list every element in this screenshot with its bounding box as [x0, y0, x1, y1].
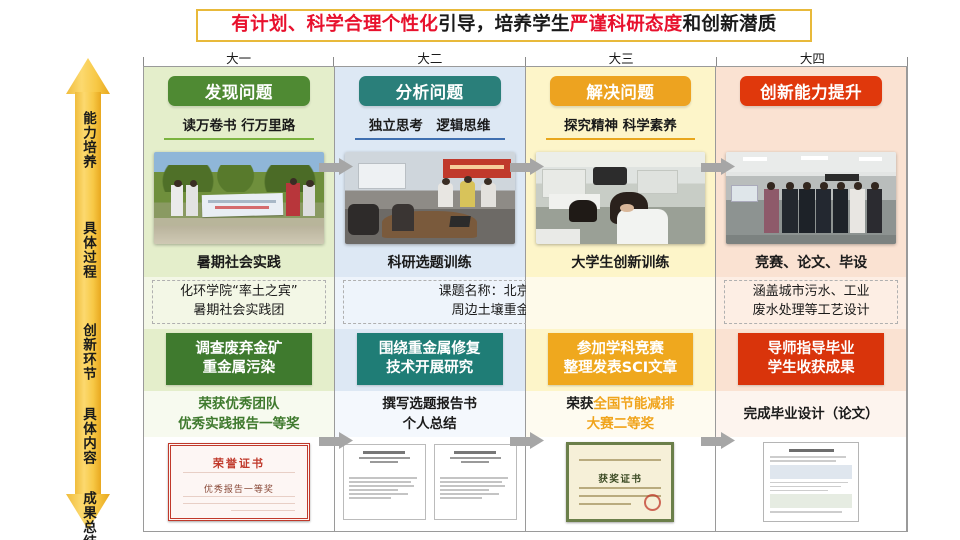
tick-left	[143, 57, 144, 66]
photo-caption-y2: 科研选题训练	[335, 247, 525, 277]
achievement-prefix: 荣获	[566, 396, 593, 412]
photo-summer-practice	[154, 152, 324, 244]
achievement-line-2: 大赛二等奖	[587, 414, 655, 434]
column-headers: 大一 大二 大三 大四	[143, 49, 908, 66]
flow-arrow-goal-2	[510, 158, 544, 175]
honor-certificate-image: 荣誉证书 优秀报告一等奖	[168, 443, 310, 521]
photo-section-y4	[716, 147, 906, 247]
goal-section-y2: 分析问题 独立思考 逻辑思维	[335, 67, 525, 147]
arrow-head-up-icon	[66, 58, 110, 94]
column-header-y4-label: 大四	[800, 51, 825, 66]
photo-group-formal	[726, 152, 896, 244]
content-line-1: 调查废弃金矿	[195, 340, 282, 359]
content-block-y4[interactable]: 导师指导毕业 学生收获成果	[738, 333, 884, 385]
content-block-y1[interactable]: 调查废弃金矿 重金属污染	[166, 333, 312, 385]
achievement-section-y3: 荣获全国节能减排 大赛二等奖	[526, 391, 716, 437]
photo-section-y1	[144, 147, 334, 247]
content-block-y3[interactable]: 参加学科竞赛 整理发表SCI文章	[548, 333, 694, 385]
note-box-y3-placeholder	[526, 280, 708, 324]
column-year-2: 分析问题 独立思考 逻辑思维	[335, 67, 526, 531]
certificate-section-y2	[335, 437, 525, 531]
goal-section-y4: 创新能力提升	[716, 67, 906, 147]
goal-rule-y2	[355, 138, 505, 140]
photo-section-y2	[335, 147, 525, 247]
goal-rule-y4	[736, 118, 886, 120]
goal-rule-y1	[164, 138, 314, 140]
certificate-title: 获奖证书	[569, 471, 671, 485]
column-header-y2-label: 大二	[417, 51, 442, 66]
content-line-1: 导师指导毕业	[768, 340, 855, 359]
content-section-y4: 导师指导毕业 学生收获成果	[716, 329, 906, 391]
achievement-section-y1: 荣获优秀团队 优秀实践报告一等奖	[144, 391, 334, 437]
flow-arrow-goal-1	[319, 158, 353, 175]
axis-label-ability: 能力培养	[75, 98, 101, 182]
note-section-y2: 课题名称：北京郊区废弃金矿 周边土壤重金属污染调查	[335, 277, 525, 329]
goal-pill-y2[interactable]: 分析问题	[359, 76, 501, 106]
paper-document-image	[763, 442, 859, 522]
goal-pill-y3[interactable]: 解决问题	[550, 76, 692, 106]
column-year-4: 创新能力提升	[716, 67, 907, 531]
certificate-title: 荣誉证书	[171, 455, 307, 471]
note-section-y4: 涵盖城市污水、工业 废水处理等工艺设计	[716, 277, 906, 329]
achievement-section-y4: 完成毕业设计（论文）	[716, 391, 906, 437]
content-block-y2[interactable]: 围绕重金属修复 技术开展研究	[357, 333, 503, 385]
content-line-1: 围绕重金属修复	[379, 340, 481, 359]
page-title: 有计划、科学合理个性化引导，培养学生严谨科研态度和创新潜质	[196, 9, 812, 42]
note-section-y1: 化环学院“率土之宾” 暑期社会实践团	[144, 277, 334, 329]
note-section-y3	[526, 277, 716, 329]
photo-lab-training	[536, 152, 706, 244]
achievement-line-1: 荣获优秀团队	[198, 394, 279, 414]
red-seal-icon	[644, 494, 661, 511]
title-segment-1: 有计划、科学合理个性化	[231, 16, 438, 35]
column-year-1: 发现问题 读万卷书 行万里路	[144, 67, 335, 531]
axis-label-content: 具体内容	[75, 394, 101, 478]
column-header-y4: 大四	[717, 49, 908, 66]
note-line-2: 暑期社会实践团	[193, 302, 284, 321]
document-page-image-1	[343, 444, 426, 520]
note-line-2: 废水处理等工艺设计	[753, 302, 870, 321]
roadmap-board: 发现问题 读万卷书 行万里路	[143, 66, 908, 532]
axis-label-results: 成果总结	[75, 478, 101, 540]
content-section-y2: 围绕重金属修复 技术开展研究	[335, 329, 525, 391]
column-header-y1-label: 大一	[226, 51, 251, 66]
certificate-section-y3: 获奖证书	[526, 437, 716, 531]
title-segment-3: 严谨科研态度	[570, 16, 683, 35]
content-line-2: 技术开展研究	[386, 359, 473, 378]
column-header-y2: 大二	[334, 49, 525, 66]
certificate-section-y1: 荣誉证书 优秀报告一等奖	[144, 437, 334, 531]
note-line-1: 涵盖城市污水、工业	[753, 283, 870, 302]
photo-thesis-defense	[345, 152, 515, 244]
axis-label-process: 具体过程	[75, 208, 101, 292]
column-header-y3-label: 大三	[609, 51, 634, 66]
goal-rule-y3	[546, 138, 696, 140]
achievement-section-y2: 撰写选题报告书 个人总结	[335, 391, 525, 437]
column-year-3: 解决问题 探究精神 科学素养 大学	[526, 67, 717, 531]
note-box-y1: 化环学院“率土之宾” 暑期社会实践团	[152, 280, 326, 324]
photo-caption-y3: 大学生创新训练	[526, 247, 716, 277]
achievement-line-1: 荣获全国节能减排	[566, 394, 674, 414]
goal-section-y3: 解决问题 探究精神 科学素养	[526, 67, 716, 147]
note-box-y4: 涵盖城市污水、工业 废水处理等工艺设计	[724, 280, 898, 324]
achievement-line-2: 个人总结	[403, 414, 457, 434]
achievement-line-2: 优秀实践报告一等奖	[178, 414, 300, 434]
flow-arrow-content-2	[510, 432, 544, 449]
goal-pill-y1[interactable]: 发现问题	[168, 76, 310, 106]
certificate-subtitle: 优秀报告一等奖	[171, 482, 307, 495]
axis-label-innovation: 创新环节	[75, 310, 101, 394]
column-header-y1: 大一	[143, 49, 334, 66]
document-page-image-2	[434, 444, 517, 520]
photo-section-y3	[526, 147, 716, 247]
content-line-2: 重金属污染	[203, 359, 276, 378]
goal-subtitle-y2: 独立思考 逻辑思维	[343, 114, 517, 138]
photo-caption-y4: 竞赛、论文、毕设	[716, 247, 906, 277]
photo-caption-y1: 暑期社会实践	[144, 247, 334, 277]
column-header-y3: 大三	[526, 49, 717, 66]
goal-subtitle-y1: 读万卷书 行万里路	[152, 114, 326, 138]
note-line-1: 化环学院“率土之宾”	[180, 283, 297, 302]
progression-axis-arrow: 能力培养 具体过程 创新环节 具体内容 成果总结	[66, 58, 110, 530]
goal-subtitle-y3: 探究精神 科学素养	[534, 114, 708, 138]
flow-arrow-content-1	[319, 432, 353, 449]
title-segment-2: 引导，培养学生	[438, 16, 570, 35]
achievement-line-1: 完成毕业设计（论文）	[744, 404, 879, 424]
goal-section-y1: 发现问题 读万卷书 行万里路	[144, 67, 334, 147]
achievement-highlight: 全国节能减排	[593, 396, 674, 412]
flow-arrow-goal-3	[701, 158, 735, 175]
goal-pill-y4[interactable]: 创新能力提升	[740, 76, 882, 106]
content-section-y1: 调查废弃金矿 重金属污染	[144, 329, 334, 391]
content-line-1: 参加学科竞赛	[577, 340, 664, 359]
title-segment-4: 和创新潜质	[683, 16, 777, 35]
flow-arrow-content-3	[701, 432, 735, 449]
certificate-section-y4	[716, 437, 906, 531]
content-line-2: 学生收获成果	[768, 359, 855, 378]
tick-right	[907, 57, 908, 66]
award-certificate-image: 获奖证书	[566, 442, 674, 522]
content-section-y3: 参加学科竞赛 整理发表SCI文章	[526, 329, 716, 391]
achievement-line-1: 撰写选题报告书	[382, 394, 477, 414]
content-line-2: 整理发表SCI文章	[564, 359, 677, 378]
